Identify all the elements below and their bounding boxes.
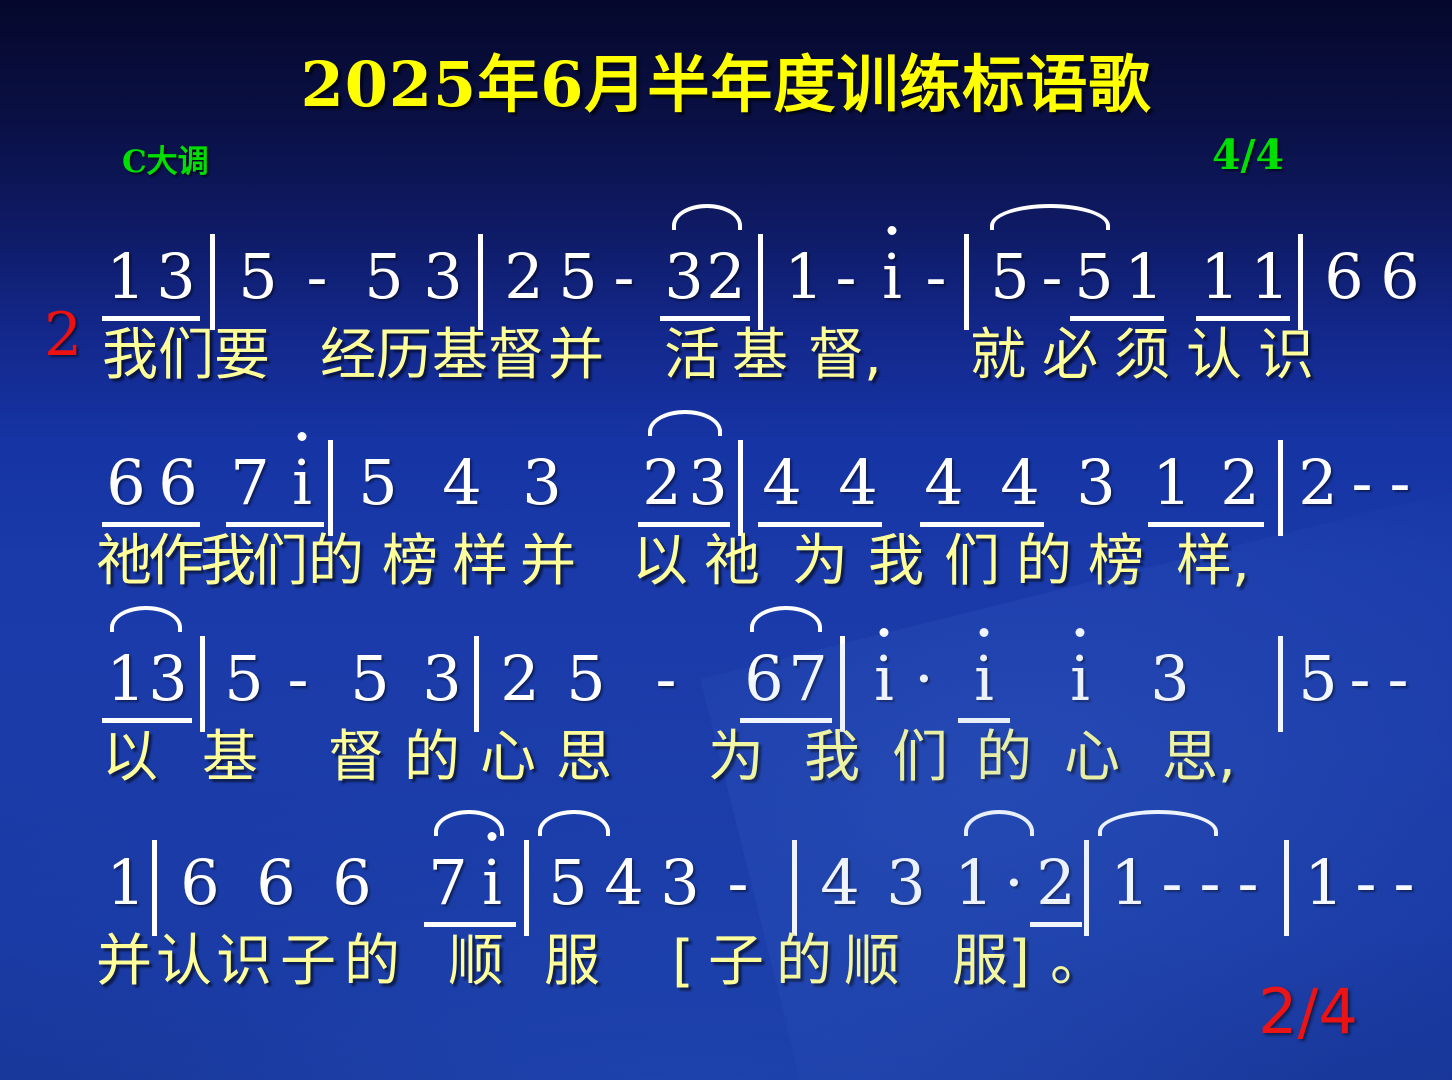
lyric-char: 的 (344, 934, 400, 990)
lyric-row: 并认识子的顺服[子的顺服]。 (92, 914, 1382, 990)
lyric-char: 督 (808, 328, 864, 384)
note-4: 4 (838, 452, 878, 514)
note-7: 7 (428, 852, 468, 914)
note-dash: - (278, 648, 318, 710)
lyric-char: , (864, 328, 882, 384)
note-6: 6 (158, 452, 198, 514)
note-6: 6 (744, 648, 784, 710)
lyric-char: 必 (1042, 328, 1098, 384)
note-2: 2 (500, 648, 540, 710)
lyric-char: 我 (804, 730, 860, 786)
score-system: 135-5325-321-i-5-511166我们要经历基督并活基督,就必须认识 (92, 212, 1382, 384)
lyric-char: 我 (200, 534, 256, 590)
note-4: 4 (924, 452, 964, 514)
notes-row: 135-5325-67i·ii35-- (92, 614, 1382, 710)
note-1: 1 (1110, 852, 1150, 914)
note-2: 2 (1220, 452, 1260, 514)
note-dash: - (604, 246, 644, 308)
note-5: 5 (1298, 648, 1338, 710)
lyric-char: 思 (556, 730, 612, 786)
lyric-char: 的 (776, 934, 832, 990)
note-dash: - (297, 246, 337, 308)
note-dash: - (1380, 452, 1420, 514)
score-system: 667i5432344443122--祂作我们的榜样并以祂为我们的榜样, (92, 418, 1382, 590)
lyric-char: 榜 (1088, 534, 1144, 590)
slur-arc (990, 204, 1110, 230)
note-dash: - (646, 648, 686, 710)
note-5: 5 (990, 246, 1030, 308)
notes-row: 16667i543-431·21---1-- (92, 818, 1382, 914)
lyric-char: 我 (868, 534, 924, 590)
note-2: 2 (1298, 452, 1338, 514)
lyric-char: 们 (158, 328, 214, 384)
note-3: 3 (1076, 452, 1116, 514)
note-5: 5 (548, 852, 588, 914)
lyric-char: 的 (976, 730, 1032, 786)
lyric-char: 须 (1114, 328, 1170, 384)
lyric-char: 基 (202, 730, 258, 786)
note-1: 1 (106, 648, 146, 710)
lyric-char: 的 (404, 730, 460, 786)
lyric-char: 样 (452, 534, 508, 590)
note-2: 2 (706, 246, 746, 308)
lyric-char: 服 (544, 934, 600, 990)
note-3: 3 (156, 246, 196, 308)
note-6: 6 (180, 852, 220, 914)
note-2: 2 (642, 452, 682, 514)
note-5: 5 (566, 648, 606, 710)
note-3: 3 (664, 246, 704, 308)
lyric-char: [ (672, 934, 694, 990)
lyric-char: 子 (280, 934, 336, 990)
lyric-char: 们 (892, 730, 948, 786)
lyric-char: 的 (1016, 534, 1072, 590)
lyric-char: 识 (216, 934, 272, 990)
note-1: 1 (1250, 246, 1290, 308)
note-dot: · (994, 852, 1034, 914)
note-dash: - (1384, 852, 1424, 914)
lyric-char: 认 (156, 934, 212, 990)
note-dash: - (1342, 452, 1382, 514)
note-i: i (872, 246, 912, 308)
lyric-char: 思 (1162, 730, 1218, 786)
lyric-row: 以基督的心思为我们的心思, (92, 710, 1382, 786)
notes-row: 135-5325-321-i-5-511166 (92, 212, 1382, 308)
note-6: 6 (106, 452, 146, 514)
lyric-char: 作 (148, 534, 204, 590)
note-dash: - (718, 852, 758, 914)
note-4: 4 (1000, 452, 1040, 514)
key-signature: C大调 (122, 136, 209, 181)
note-1: 1 (1200, 246, 1240, 308)
lyric-char: 督 (328, 730, 384, 786)
lyric-char: 的 (308, 534, 364, 590)
lyric-char: 祂 (704, 534, 760, 590)
lyric-char: 并 (96, 934, 152, 990)
slide-canvas: 2025年6月半年度训练标语歌 C大调 4/4 2 135-5325-321-i… (0, 0, 1452, 1080)
note-5: 5 (558, 246, 598, 308)
lyric-char: 我 (102, 328, 158, 384)
slur-arc (434, 810, 504, 836)
note-1: 1 (106, 246, 146, 308)
note-6: 6 (1324, 246, 1364, 308)
note-5: 5 (350, 648, 390, 710)
note-5: 5 (1074, 246, 1114, 308)
lyric-char: 心 (480, 730, 536, 786)
note-i: i (864, 648, 904, 710)
note-4: 4 (762, 452, 802, 514)
note-dash: - (1228, 852, 1268, 914)
note-2: 2 (504, 246, 544, 308)
lyric-char: 们 (252, 534, 308, 590)
lyric-char: 识 (1258, 328, 1314, 384)
notes-row: 667i5432344443122-- (92, 418, 1382, 514)
lyric-char: 就 (970, 328, 1026, 384)
note-dash: - (826, 246, 866, 308)
note-dash: - (1032, 246, 1072, 308)
note-7: 7 (230, 452, 270, 514)
lyric-char: 以 (102, 730, 158, 786)
note-3: 3 (886, 852, 926, 914)
lyric-char: 基 (432, 328, 488, 384)
verse-number: 2 (44, 300, 82, 370)
slur-arc (1098, 810, 1218, 836)
lyric-row: 祂作我们的榜样并以祂为我们的榜样, (92, 514, 1382, 590)
lyric-char: ] (1008, 934, 1030, 990)
lyric-char: 经 (320, 328, 376, 384)
slur-arc (672, 204, 742, 230)
note-6: 6 (332, 852, 372, 914)
note-3: 3 (1150, 648, 1190, 710)
note-dash: - (1346, 852, 1386, 914)
lyric-char: 认 (1186, 328, 1242, 384)
page-number: 2/4 (1258, 975, 1358, 1048)
note-3: 3 (660, 852, 700, 914)
note-4: 4 (604, 852, 644, 914)
note-1: 1 (784, 246, 824, 308)
note-dash: - (1152, 852, 1192, 914)
note-5: 5 (358, 452, 398, 514)
lyric-char: 并 (520, 534, 576, 590)
score-system: 135-5325-67i·ii35--以基督的心思为我们的心思, (92, 614, 1382, 786)
note-dash: - (1340, 648, 1380, 710)
lyric-char: 顺 (844, 934, 900, 990)
note-3: 3 (522, 452, 562, 514)
lyric-char: 要 (214, 328, 270, 384)
lyric-char: 服 (952, 934, 1008, 990)
note-dot: · (904, 648, 944, 710)
slur-arc (648, 410, 722, 436)
note-4: 4 (820, 852, 860, 914)
lyric-char: 历 (376, 328, 432, 384)
slur-arc (538, 810, 610, 836)
lyric-char: , (1218, 730, 1236, 786)
note-5: 5 (224, 648, 264, 710)
slur-arc (750, 606, 822, 632)
lyric-char: 子 (708, 934, 764, 990)
note-5: 5 (364, 246, 404, 308)
note-4: 4 (442, 452, 482, 514)
lyric-char: 以 (632, 534, 688, 590)
note-6: 6 (256, 852, 296, 914)
note-7: 7 (788, 648, 828, 710)
lyric-char: 为 (708, 730, 764, 786)
note-1: 1 (954, 852, 994, 914)
lyric-char: 祂 (96, 534, 152, 590)
note-6: 6 (1380, 246, 1420, 308)
lyric-char: 为 (792, 534, 848, 590)
lyric-char: 督 (488, 328, 544, 384)
score-system: 16667i543-431·21---1--并认识子的顺服[子的顺服]。 (92, 818, 1382, 990)
slur-arc (110, 606, 182, 632)
lyric-char: 顺 (448, 934, 504, 990)
slur-arc (964, 810, 1034, 836)
lyric-char: 并 (548, 328, 604, 384)
page-title: 2025年6月半年度训练标语歌 (0, 34, 1452, 124)
lyric-row: 我们要经历基督并活基督,就必须认识 (92, 308, 1382, 384)
note-dash: - (1378, 648, 1418, 710)
lyric-char: 活 (664, 328, 720, 384)
note-3: 3 (422, 648, 462, 710)
lyric-char: 样 (1176, 534, 1232, 590)
lyric-char: 基 (732, 328, 788, 384)
note-3: 3 (688, 452, 728, 514)
lyric-char: 榜 (382, 534, 438, 590)
note-2: 2 (1036, 852, 1076, 914)
time-signature: 4/4 (1212, 131, 1284, 179)
note-i: i (472, 852, 512, 914)
note-i: i (1060, 648, 1100, 710)
lyric-char: 。 (1050, 934, 1106, 990)
note-3: 3 (148, 648, 188, 710)
lyric-char: 心 (1064, 730, 1120, 786)
note-dash: - (1190, 852, 1230, 914)
note-i: i (282, 452, 322, 514)
note-1: 1 (1152, 452, 1192, 514)
lyric-char: 们 (944, 534, 1000, 590)
lyric-char: , (1232, 534, 1250, 590)
note-1: 1 (1124, 246, 1164, 308)
note-1: 1 (1304, 852, 1344, 914)
note-3: 3 (423, 246, 463, 308)
note-i: i (964, 648, 1004, 710)
note-5: 5 (238, 246, 278, 308)
note-dash: - (916, 246, 956, 308)
note-1: 1 (106, 852, 146, 914)
